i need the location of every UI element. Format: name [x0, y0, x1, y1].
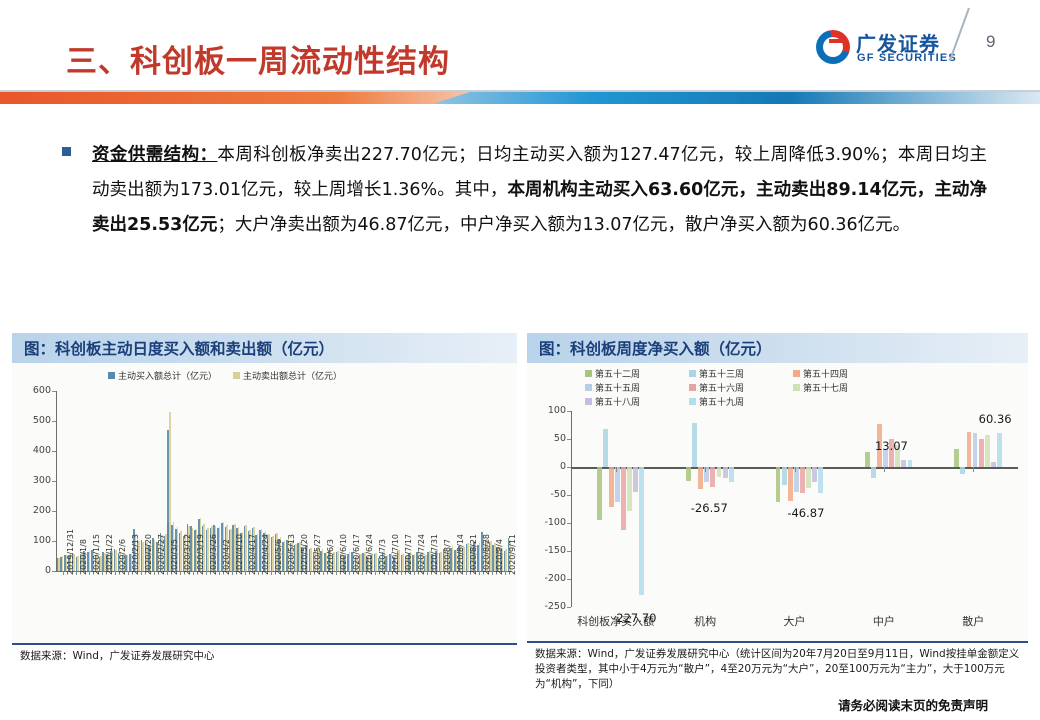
right-bar	[954, 449, 959, 467]
left-x-tick-label: 2020/7/17	[404, 534, 413, 575]
left-x-tickmark	[401, 571, 402, 575]
left-x-tickmark	[336, 571, 337, 575]
left-x-tick-label: 2020/4/17	[248, 534, 257, 575]
left-x-tick-label: 2020/3/5	[170, 539, 179, 575]
left-bar	[414, 554, 416, 571]
left-x-tick-label: 2020/8/21	[469, 534, 478, 575]
left-bar	[440, 552, 442, 571]
left-y-tickmark-100	[52, 541, 56, 542]
left-chart-plot: 主动买入额总计（亿元）主动卖出额总计（亿元） 01002003004005006…	[12, 363, 517, 643]
left-bar	[127, 555, 129, 571]
left-x-tickmark	[492, 571, 493, 575]
left-x-tick-label: 2020/2/6	[118, 539, 127, 575]
left-x-tick-label: 2020/9/11	[508, 534, 517, 575]
left-x-tickmark	[154, 571, 155, 575]
right-bar	[997, 433, 1002, 467]
left-y-tickmark-500	[52, 421, 56, 422]
left-y-tickmark-200	[52, 511, 56, 512]
right-bar	[812, 467, 817, 482]
left-x-tick-label: 2020/2/13	[131, 534, 140, 575]
legend-label-7: 第五十九周	[699, 395, 744, 408]
left-chart-title: 图：科创板主动日度买入额和卖出额（亿元）	[12, 337, 334, 359]
left-x-tickmark	[167, 571, 168, 575]
legend-swatch-1	[689, 370, 696, 377]
legend-swatch-1	[233, 372, 240, 379]
left-x-tickmark	[206, 571, 207, 575]
left-y-tickmark-0	[52, 571, 56, 572]
left-x-tickmark	[427, 571, 428, 575]
left-y-tick-300: 300	[18, 475, 51, 486]
logo-english-name: GF SECURITIES	[857, 52, 957, 64]
summary-bullet: 资金供需结构：本周科创板净卖出227.70亿元；日均主动买入额为127.47亿元…	[62, 138, 987, 243]
legend-item-0: 主动买入额总计（亿元）	[108, 369, 217, 382]
right-data-label: -46.87	[787, 506, 824, 520]
left-bar	[310, 548, 312, 571]
right-bar	[991, 462, 996, 467]
left-y-tick-200: 200	[18, 505, 51, 516]
left-bar	[479, 543, 481, 571]
legend-item-0: 第五十二周	[585, 367, 689, 380]
legend-item-7: 第五十九周	[689, 395, 793, 408]
slide-header: 三、科创板一周流动性结构 广发证券 GF SECURITIES 9	[0, 0, 1040, 100]
left-x-tick-label: 2020/2/20	[144, 534, 153, 575]
legend-swatch-3	[585, 384, 592, 391]
left-bar	[505, 549, 507, 571]
legend-label-3: 第五十五周	[595, 381, 640, 394]
right-cat-label: 散户	[929, 613, 1018, 629]
left-y-tickmark-300	[52, 481, 56, 482]
legend-label-5: 第五十七周	[803, 381, 848, 394]
left-x-tick-label: 2020/3/12	[183, 534, 192, 575]
summary-text-2: ；大户净卖出额为46.87亿元，中户净买入额为13.07亿元，散户净买入额为60…	[217, 215, 910, 235]
left-x-tick-label: 2020/8/14	[456, 534, 465, 575]
right-bar	[782, 467, 787, 485]
left-x-tick-label: 2020/5/6	[274, 539, 283, 575]
left-x-tickmark	[505, 571, 506, 575]
right-y-tickmark-100	[567, 411, 571, 412]
left-x-tick-label: 2020/7/24	[417, 534, 426, 575]
legend-label-6: 第五十八周	[595, 395, 640, 408]
left-y-tick-500: 500	[18, 415, 51, 426]
left-x-tickmark	[89, 571, 90, 575]
right-y-tickmark--100	[567, 523, 571, 524]
left-x-tick-label: 2020/6/3	[326, 539, 335, 575]
left-x-tickmark	[440, 571, 441, 575]
right-bar	[967, 432, 972, 467]
left-bar	[62, 556, 64, 571]
left-x-tick-label: 2020/1/15	[92, 534, 101, 575]
right-bar	[621, 467, 626, 530]
right-y-tickmark--150	[567, 551, 571, 552]
legend-swatch-7	[689, 398, 696, 405]
legend-item-1: 第五十三周	[689, 367, 793, 380]
legend-swatch-5	[793, 384, 800, 391]
right-y-tickmark--250	[567, 607, 571, 608]
legend-item-5: 第五十七周	[793, 381, 897, 394]
legend-swatch-4	[689, 384, 696, 391]
right-bar	[692, 423, 697, 467]
left-bar	[322, 549, 324, 571]
left-x-tick-label: 2020/2/27	[157, 534, 166, 575]
right-y-tickmark-50	[567, 439, 571, 440]
left-x-tick-label: 2020/3/26	[209, 534, 218, 575]
left-y-tickmark-600	[52, 391, 56, 392]
left-x-tick-label: 2020/1/8	[79, 539, 88, 575]
left-bar	[375, 553, 377, 571]
right-bar	[865, 452, 870, 467]
legend-item-3: 第五十五周	[585, 381, 689, 394]
left-x-tickmark	[466, 571, 467, 575]
left-x-tickmark	[271, 571, 272, 575]
left-x-tickmark	[63, 571, 64, 575]
left-x-tick-label: 2020/5/20	[300, 534, 309, 575]
right-cat-label: 中户	[839, 613, 928, 629]
right-bar	[806, 467, 811, 488]
left-x-tickmark	[297, 571, 298, 575]
right-bar	[710, 467, 715, 487]
left-x-tickmark	[453, 571, 454, 575]
right-y-tick--150: -150	[531, 545, 566, 556]
right-bar	[800, 467, 805, 493]
left-y-tickmark-400	[52, 451, 56, 452]
left-x-tickmark	[258, 571, 259, 575]
legend-label-2: 第五十四周	[803, 367, 848, 380]
left-chart-legend: 主动买入额总计（亿元）主动卖出额总计（亿元）	[108, 369, 342, 382]
right-bar	[776, 467, 781, 502]
right-x-tickmark	[884, 467, 885, 472]
right-y-tick--50: -50	[531, 489, 566, 500]
right-bar	[979, 439, 984, 467]
left-chart-source: 数据来源：Wind，广发证券发展研究中心	[12, 643, 517, 678]
right-chart-legend: 第五十二周第五十三周第五十四周第五十五周第五十六周第五十七周第五十八周第五十九周	[585, 367, 897, 408]
right-bar	[717, 467, 722, 477]
left-x-tickmark	[388, 571, 389, 575]
right-y-tick--200: -200	[531, 573, 566, 584]
right-y-tick-50: 50	[531, 433, 566, 444]
left-x-tick-label: 2020/7/10	[391, 534, 400, 575]
right-bar	[871, 467, 876, 478]
left-bar-peak2	[167, 430, 169, 571]
left-y-tick-0: 0	[18, 565, 51, 576]
legend-label-1: 第五十三周	[699, 367, 744, 380]
left-y-tick-600: 600	[18, 385, 51, 396]
right-bar	[960, 467, 965, 474]
left-x-tickmark	[76, 571, 77, 575]
legend-swatch-2	[793, 370, 800, 377]
summary-paragraph: 资金供需结构：本周科创板净卖出227.70亿元；日均主动买入额为127.47亿元…	[92, 138, 987, 243]
right-y-tick-0: 0	[531, 461, 566, 472]
right-bar	[818, 467, 823, 493]
right-x-tickmark	[973, 467, 974, 472]
legend-swatch-0	[108, 372, 115, 379]
right-cat-label: 大户	[750, 613, 839, 629]
left-x-tick-label: 2020/1/22	[105, 534, 114, 575]
legend-label-0: 主动买入额总计（亿元）	[118, 369, 217, 382]
left-x-tickmark	[102, 571, 103, 575]
left-x-tick-label: 2020/4/24	[261, 534, 270, 575]
right-bar	[609, 467, 614, 507]
page-title: 三、科创板一周流动性结构	[66, 36, 450, 81]
right-y-tickmark--50	[567, 495, 571, 496]
left-x-tickmark	[349, 571, 350, 575]
right-data-label: 60.36	[979, 412, 1012, 426]
left-x-tick-label: 2020/6/10	[339, 534, 348, 575]
right-bar	[597, 467, 602, 520]
left-x-tick-label: 2020/3/19	[196, 534, 205, 575]
right-chart-source: 数据来源：Wind，广发证券发展研究中心（统计区间为20年7月20日至9月11日…	[527, 641, 1028, 697]
left-x-tickmark	[362, 571, 363, 575]
left-chart-header: 图：科创板主动日度买入额和卖出额（亿元）	[12, 333, 517, 363]
right-bar	[788, 467, 793, 501]
legend-swatch-6	[585, 398, 592, 405]
right-bar	[729, 467, 734, 482]
left-x-tick-label: 2020/5/13	[287, 534, 296, 575]
left-bar	[284, 541, 286, 571]
right-y-tickmark--200	[567, 579, 571, 580]
right-x-tickmark	[795, 467, 796, 472]
right-y-tick--100: -100	[531, 517, 566, 528]
right-bar	[973, 433, 978, 467]
left-x-tick-label: 2020/9/4	[495, 539, 504, 575]
legend-item-6: 第五十八周	[585, 395, 689, 408]
right-chart-header: 图：科创板周度净买入额（亿元）	[527, 333, 1028, 363]
right-y-axis	[571, 411, 572, 607]
right-chart-plot: 第五十二周第五十三周第五十四周第五十五周第五十六周第五十七周第五十八周第五十九周…	[527, 363, 1028, 641]
left-x-tick-label: 2020/8/28	[482, 534, 491, 575]
left-x-tickmark	[323, 571, 324, 575]
left-x-tickmark	[115, 571, 116, 575]
left-y-axis	[56, 391, 57, 571]
right-x-tickmark	[705, 467, 706, 472]
left-x-tick-label: 2020/5/27	[313, 534, 322, 575]
legend-item-2: 第五十四周	[793, 367, 897, 380]
left-bar	[387, 555, 389, 571]
legend-item-4: 第五十六周	[689, 381, 793, 394]
left-bar	[452, 546, 454, 571]
header-rule	[0, 90, 1040, 92]
right-y-tick-100: 100	[531, 405, 566, 416]
right-data-label: 13.07	[875, 439, 908, 453]
left-y-tick-400: 400	[18, 445, 51, 456]
legend-label-1: 主动卖出额总计（亿元）	[243, 369, 342, 382]
left-x-tick-label: 2020/7/31	[430, 534, 439, 575]
left-chart-panel: 图：科创板主动日度买入额和卖出额（亿元） 主动买入额总计（亿元）主动卖出额总计（…	[12, 333, 517, 676]
gf-securities-logo: 广发证券 GF SECURITIES	[816, 26, 966, 72]
page-number: 9	[986, 32, 995, 52]
left-bar	[154, 540, 156, 571]
left-y-tick-100: 100	[18, 535, 51, 546]
left-x-tickmark	[180, 571, 181, 575]
right-bar	[723, 467, 728, 478]
left-bar	[219, 527, 221, 571]
header-accent-blue	[415, 92, 1040, 104]
right-cat-label: 机构	[660, 613, 749, 629]
left-bar	[58, 558, 60, 572]
left-x-tick-label: 2020/6/17	[352, 534, 361, 575]
gf-logo-icon	[816, 30, 850, 64]
summary-label: 资金供需结构：	[92, 145, 217, 165]
right-x-tickmark	[616, 467, 617, 472]
right-bar	[615, 467, 620, 502]
left-bar	[115, 550, 117, 571]
right-chart-title: 图：科创板周度净买入额（亿元）	[527, 337, 772, 359]
right-data-label: -26.57	[691, 501, 728, 515]
legend-item-1: 主动卖出额总计（亿元）	[233, 369, 342, 382]
right-data-label: -227.70	[612, 611, 656, 625]
left-x-tickmark	[375, 571, 376, 575]
left-bar	[257, 534, 259, 571]
left-x-tick-label: 2020/6/24	[365, 534, 374, 575]
left-x-tickmark	[232, 571, 233, 575]
left-x-tickmark	[128, 571, 129, 575]
right-bar	[639, 467, 644, 595]
right-bar	[698, 467, 703, 489]
bullet-square-icon	[62, 147, 71, 156]
left-x-tickmark	[219, 571, 220, 575]
footer-disclaimer: 请务必阅读末页的免责声明	[838, 695, 988, 714]
left-x-tick-label: 2020/7/3	[378, 539, 387, 575]
left-bar	[180, 531, 182, 571]
left-x-tick-label: 2020/4/2	[222, 539, 231, 575]
left-x-tickmark	[245, 571, 246, 575]
left-bar	[245, 525, 247, 572]
left-x-tickmark	[284, 571, 285, 575]
left-x-tickmark	[310, 571, 311, 575]
legend-label-0: 第五十二周	[595, 367, 640, 380]
left-x-tick-label: 2020/8/7	[443, 539, 452, 575]
left-x-tickmark	[479, 571, 480, 575]
left-x-tickmark	[414, 571, 415, 575]
right-bar	[603, 429, 608, 467]
left-x-tickmark	[193, 571, 194, 575]
right-bar	[627, 467, 632, 511]
left-x-tick-label: 2019/12/31	[66, 529, 75, 575]
right-chart-panel: 图：科创板周度净买入额（亿元） 第五十二周第五十三周第五十四周第五十五周第五十六…	[527, 333, 1028, 693]
left-bar	[192, 528, 194, 571]
right-bar	[985, 435, 990, 467]
left-bar	[349, 552, 351, 571]
header-accent-orange	[0, 92, 470, 104]
right-bar	[908, 460, 913, 467]
right-y-tick--250: -250	[531, 601, 566, 612]
right-bar	[901, 460, 906, 467]
legend-label-4: 第五十六周	[699, 381, 744, 394]
right-bar	[633, 467, 638, 492]
left-x-tickmark	[141, 571, 142, 575]
left-bar	[89, 551, 91, 571]
legend-swatch-0	[585, 370, 592, 377]
left-x-tick-label: 2020/4/10	[235, 534, 244, 575]
right-bar	[686, 467, 691, 481]
